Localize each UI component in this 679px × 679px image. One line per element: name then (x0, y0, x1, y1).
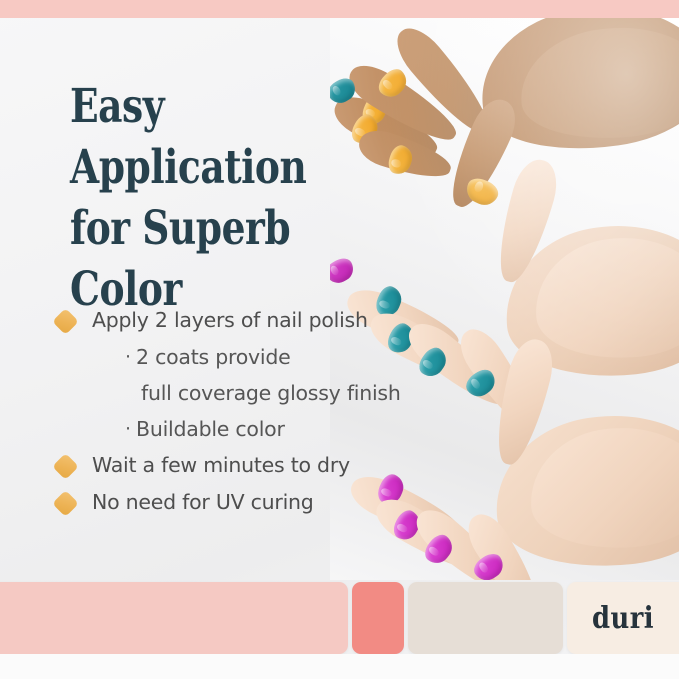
list-item-label: No need for UV curing (92, 487, 314, 518)
top-accent-bar (0, 0, 679, 18)
list-item-label: Apply 2 layers of nail polish (92, 305, 368, 336)
swatch-coral (352, 582, 404, 654)
bottom-margin (0, 654, 679, 679)
page-title: Easy Application for Superb Color (70, 76, 334, 320)
list-item: full coverage glossy finish (56, 378, 416, 414)
promo-banner: Easy Application for Superb Color Apply … (0, 0, 679, 679)
nail-magenta-thumb (330, 255, 358, 288)
list-item-label: Wait a few minutes to dry (92, 450, 350, 481)
diamond-marker-icon (52, 308, 79, 335)
list-item: No need for UV curing (56, 487, 416, 523)
list-item: Wait a few minutes to dry (56, 450, 416, 486)
brand-logo: duri (575, 582, 671, 654)
diamond-marker-icon (52, 490, 79, 517)
list-item: · 2 coats provide (56, 342, 416, 378)
diamond-marker-icon (52, 453, 79, 480)
middot-marker-icon: · (125, 414, 131, 444)
swatch-blush-pink (0, 582, 348, 654)
list-item-label: full coverage glossy finish (141, 378, 401, 409)
list-item: · Buildable color (56, 414, 416, 450)
swatch-greige (408, 582, 563, 654)
list-item: Apply 2 layers of nail polish (56, 305, 416, 341)
middot-marker-icon: · (125, 342, 131, 372)
list-item-label: 2 coats provide (136, 342, 290, 373)
list-item-label: Buildable color (136, 414, 285, 445)
feature-list: Apply 2 layers of nail polish · 2 coats … (56, 305, 416, 524)
